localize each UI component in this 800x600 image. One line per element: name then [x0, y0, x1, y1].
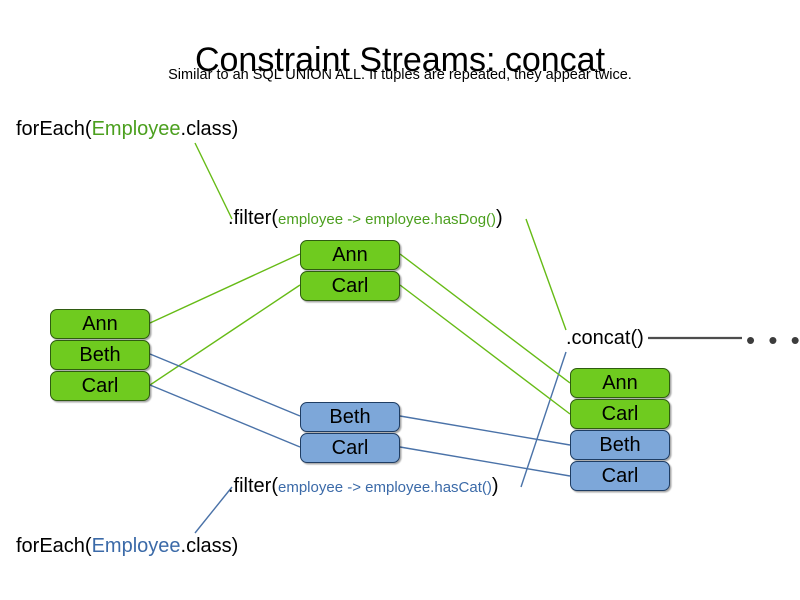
filter-top-suffix: ) [496, 207, 503, 229]
continuation-ellipsis: • • • [746, 327, 800, 353]
node-source-beth[interactable]: Beth [50, 340, 150, 370]
foreach-bottom-prefix: forEach( [16, 535, 92, 557]
foreach-top-prefix: forEach( [16, 118, 92, 140]
foreach-top-suffix: .class) [181, 118, 239, 140]
foreach-top-type: Employee [92, 118, 181, 140]
node-dog-carl[interactable]: Carl [300, 271, 400, 301]
label-foreach-bottom: forEach(Employee.class) [16, 536, 238, 556]
leader-line-filter-bottom [521, 352, 566, 487]
filter-bottom-arrow: -> [343, 479, 365, 496]
node-dog-ann[interactable]: Ann [300, 240, 400, 270]
wire-dog-carl-to-result-carl [400, 285, 570, 414]
connector-lines [0, 0, 800, 600]
wire-source-carl-to-dog-carl [150, 285, 300, 385]
node-source-ann[interactable]: Ann [50, 309, 150, 339]
filter-top-prefix: .filter( [228, 207, 278, 229]
node-result-beth[interactable]: Beth [570, 430, 670, 460]
filter-bottom-suffix: ) [492, 475, 499, 497]
wire-cat-beth-to-result-beth [400, 416, 570, 445]
filter-top-param: employee [278, 211, 343, 228]
filter-top-body: employee.hasDog() [365, 211, 496, 228]
leader-line-filter-top [526, 219, 566, 330]
leader-line-foreach-bottom [195, 487, 232, 533]
node-cat-carl[interactable]: Carl [300, 433, 400, 463]
wire-dog-ann-to-result-ann [400, 254, 570, 383]
filter-bottom-param: employee [278, 479, 343, 496]
foreach-bottom-suffix: .class) [181, 535, 239, 557]
label-foreach-top: forEach(Employee.class) [16, 119, 238, 139]
filter-bottom-prefix: .filter( [228, 475, 278, 497]
node-result-carl-dog[interactable]: Carl [570, 399, 670, 429]
page-subtitle: Similar to an SQL UNION ALL. If tuples a… [0, 67, 800, 83]
foreach-bottom-type: Employee [92, 535, 181, 557]
diagram-canvas: Constraint Streams: concat Similar to an… [0, 0, 800, 600]
filter-top-arrow: -> [343, 211, 365, 228]
label-concat: .concat() [566, 328, 644, 348]
filter-bottom-body: employee.hasCat() [365, 479, 492, 496]
label-filter-hasdog: .filter(employee -> employee.hasDog()) [228, 208, 503, 228]
node-cat-beth[interactable]: Beth [300, 402, 400, 432]
node-result-ann[interactable]: Ann [570, 368, 670, 398]
node-source-carl[interactable]: Carl [50, 371, 150, 401]
wire-cat-carl-to-result-carl [400, 447, 570, 476]
wire-source-ann-to-dog-ann [150, 254, 300, 323]
label-filter-hascat: .filter(employee -> employee.hasCat()) [228, 476, 499, 496]
leader-line-foreach-top [195, 143, 232, 219]
wire-source-carl-to-cat-carl [150, 385, 300, 447]
wire-source-beth-to-cat-beth [150, 354, 300, 416]
node-result-carl-cat[interactable]: Carl [570, 461, 670, 491]
